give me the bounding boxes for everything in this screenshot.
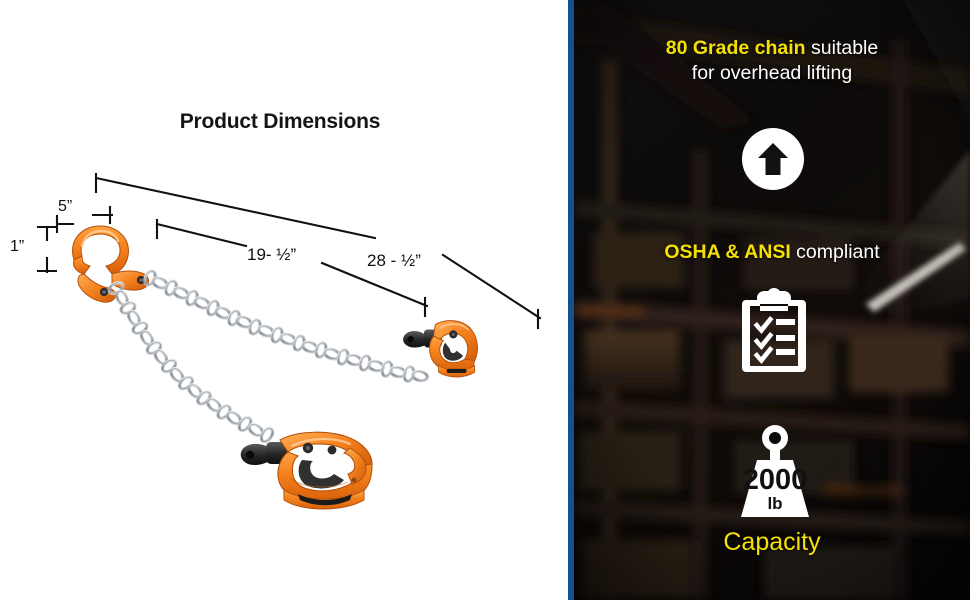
clipboard-checklist-icon [738,288,810,374]
dim-28-right-seg [443,255,540,318]
dimension-label-28-half-in: 28 - ½” [367,251,421,271]
drum-clamp-lower [241,432,372,509]
feature-text-compliance: OSHA & ANSI compliant [574,240,970,265]
capacity-label: Capacity [574,528,970,557]
dimension-label-1in: 1” [10,238,24,256]
up-arrow-glyph [757,142,789,176]
dim-28-left-seg [96,178,375,238]
feature-1-highlight: 80 Grade chain [666,37,806,59]
dim-19-left-seg [157,224,246,246]
left-dimensions-panel: Product Dimensions [0,0,569,600]
dimension-label-19-half-in: 19- ½” [247,245,296,265]
feature-text-overhead-lifting: 80 Grade chain suitable for overhead lif… [574,36,970,86]
feature-1-rest: suitable [806,37,879,59]
up-arrow-circle-icon [742,128,804,190]
dimension-label-5in: 5” [58,198,72,216]
chain-leg-upper [143,269,428,382]
capacity-unit: lb [727,495,823,512]
feature-1-line2: for overhead lifting [692,62,852,84]
product-illustration [0,0,569,600]
product-infographic: Product Dimensions [0,0,970,600]
feature-2-highlight: OSHA & ANSI [664,241,790,263]
feature-2-rest: compliant [791,241,880,263]
capacity-value: 2000 [727,466,823,495]
